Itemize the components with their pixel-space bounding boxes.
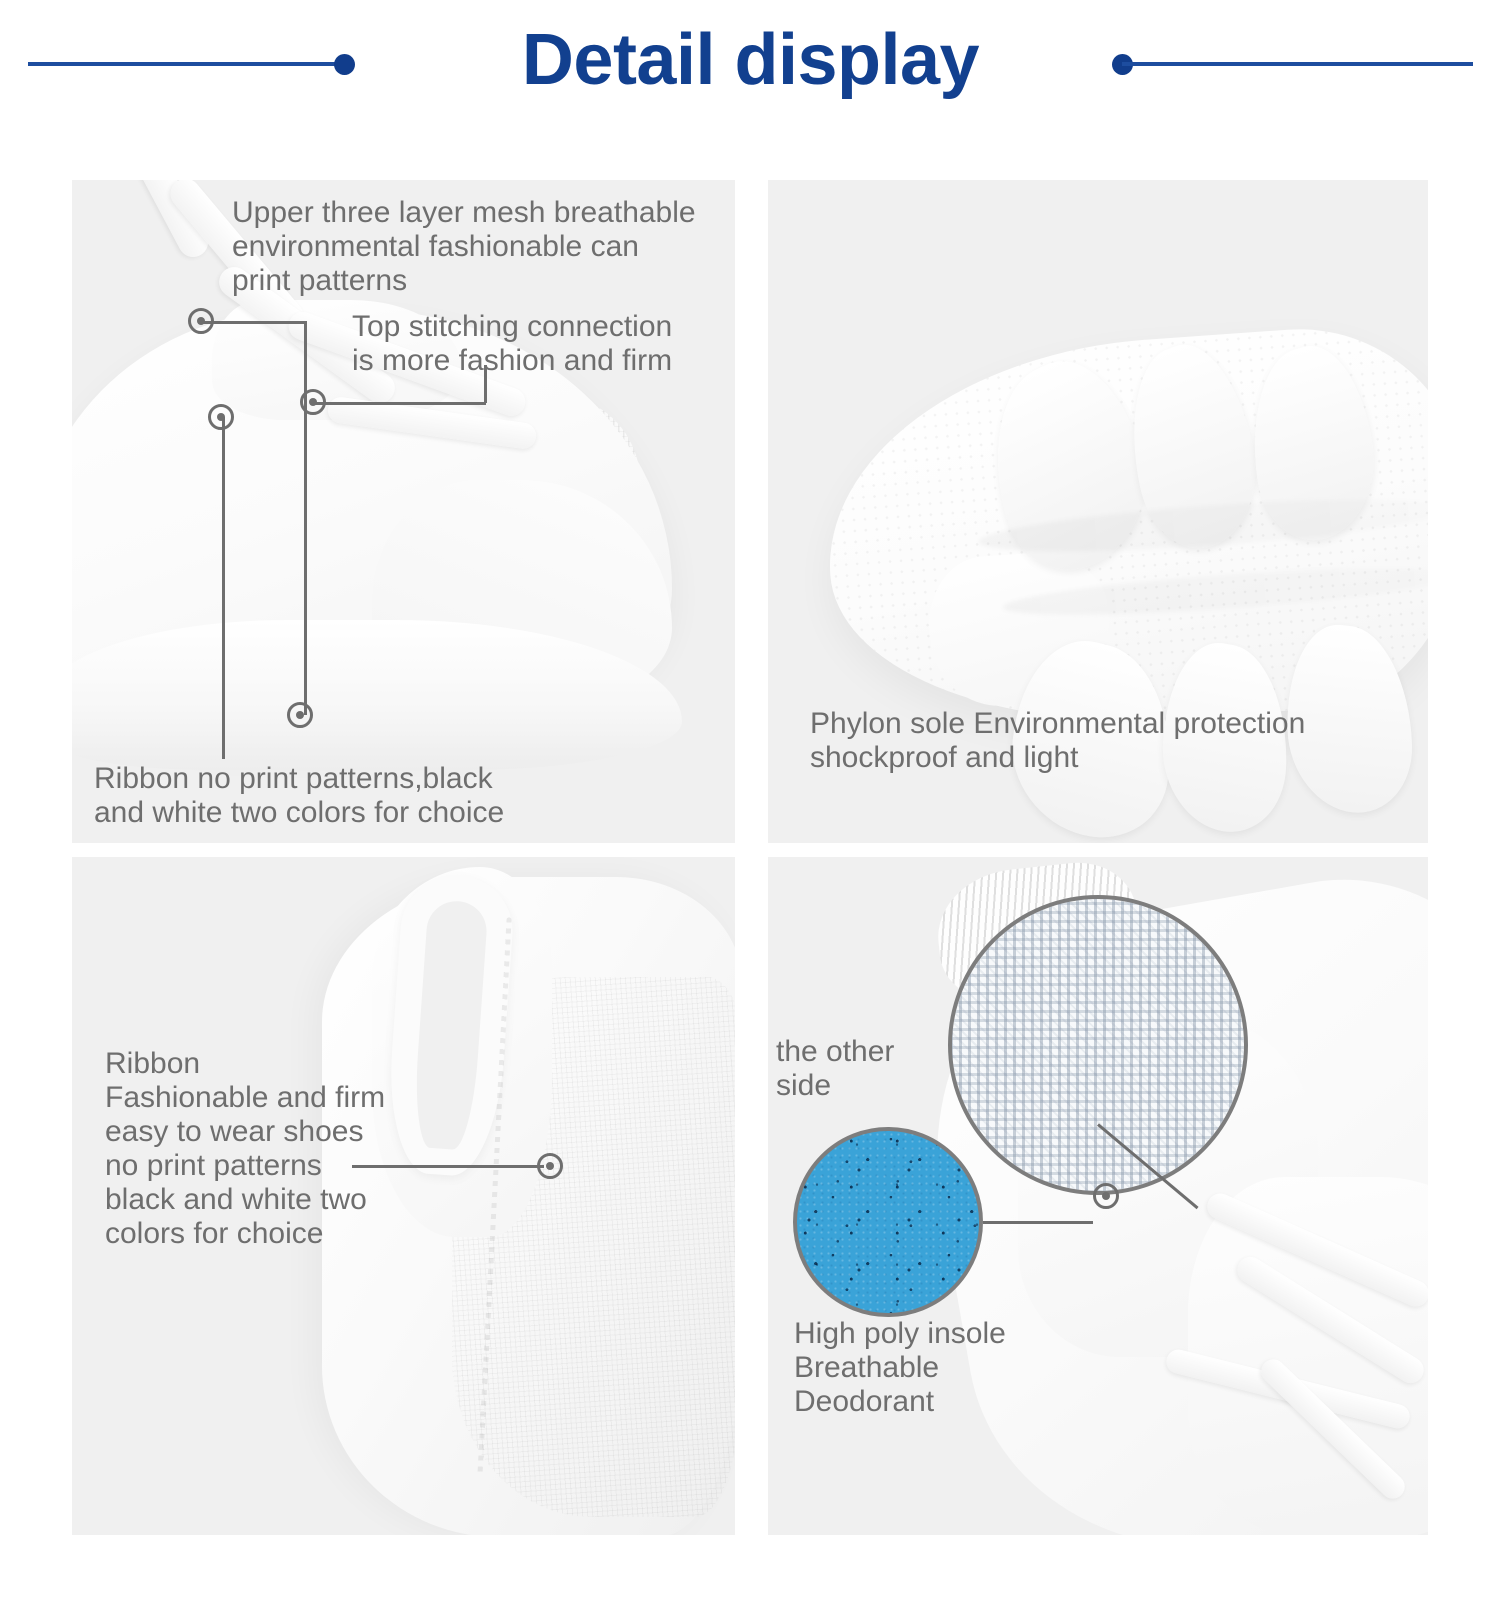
- high-poly-insole-caption: High poly insole Breathable Deodorant: [794, 1317, 1094, 1419]
- sole-outline: [816, 318, 1428, 742]
- leader-line: [484, 365, 487, 403]
- callout-marker-ribbon-detail[interactable]: [537, 1153, 563, 1179]
- leader-line: [314, 402, 486, 405]
- insole-panel: the other side High poly insole Breathab…: [768, 857, 1428, 1535]
- leader-line: [304, 321, 307, 715]
- ribbon-detail-caption: Ribbon Fashionable and firm easy to wear…: [105, 1047, 435, 1251]
- callout-marker-insole[interactable]: [1093, 1183, 1119, 1209]
- mesh-zoom-bubble: [948, 895, 1248, 1195]
- callout-marker-ribbon-end[interactable]: [287, 702, 313, 728]
- leader-line: [222, 417, 225, 759]
- heel-ribbon-panel: Ribbon Fashionable and firm easy to wear…: [72, 857, 735, 1535]
- leader-line: [202, 321, 307, 324]
- leader-line: [352, 1165, 544, 1168]
- upper-detail-panel: Upper three layer mesh breathable enviro…: [72, 180, 735, 843]
- insole-speckles: [797, 1131, 979, 1313]
- callout-marker-ribbon[interactable]: [208, 404, 234, 430]
- upper-mesh-caption: Upper three layer mesh breathable enviro…: [232, 196, 727, 298]
- other-side-caption: the other side: [776, 1035, 956, 1103]
- leader-line: [983, 1221, 1093, 1224]
- callout-marker-stitching[interactable]: [300, 389, 326, 415]
- insole-zoom-bubble: [793, 1127, 983, 1317]
- phylon-sole-panel: Phylon sole Environmental protection sho…: [768, 180, 1428, 843]
- ribbon-colors-caption: Ribbon no print patterns,black and white…: [94, 762, 554, 830]
- top-stitching-caption: Top stitching connection is more fashion…: [352, 310, 722, 378]
- page-header: Detail display: [0, 0, 1501, 150]
- header-rule-right: [1122, 62, 1473, 66]
- phylon-sole-caption: Phylon sole Environmental protection sho…: [810, 707, 1410, 775]
- mesh-weave-texture: [948, 895, 1248, 1195]
- page-title: Detail display: [0, 14, 1501, 106]
- callout-marker-mesh[interactable]: [188, 308, 214, 334]
